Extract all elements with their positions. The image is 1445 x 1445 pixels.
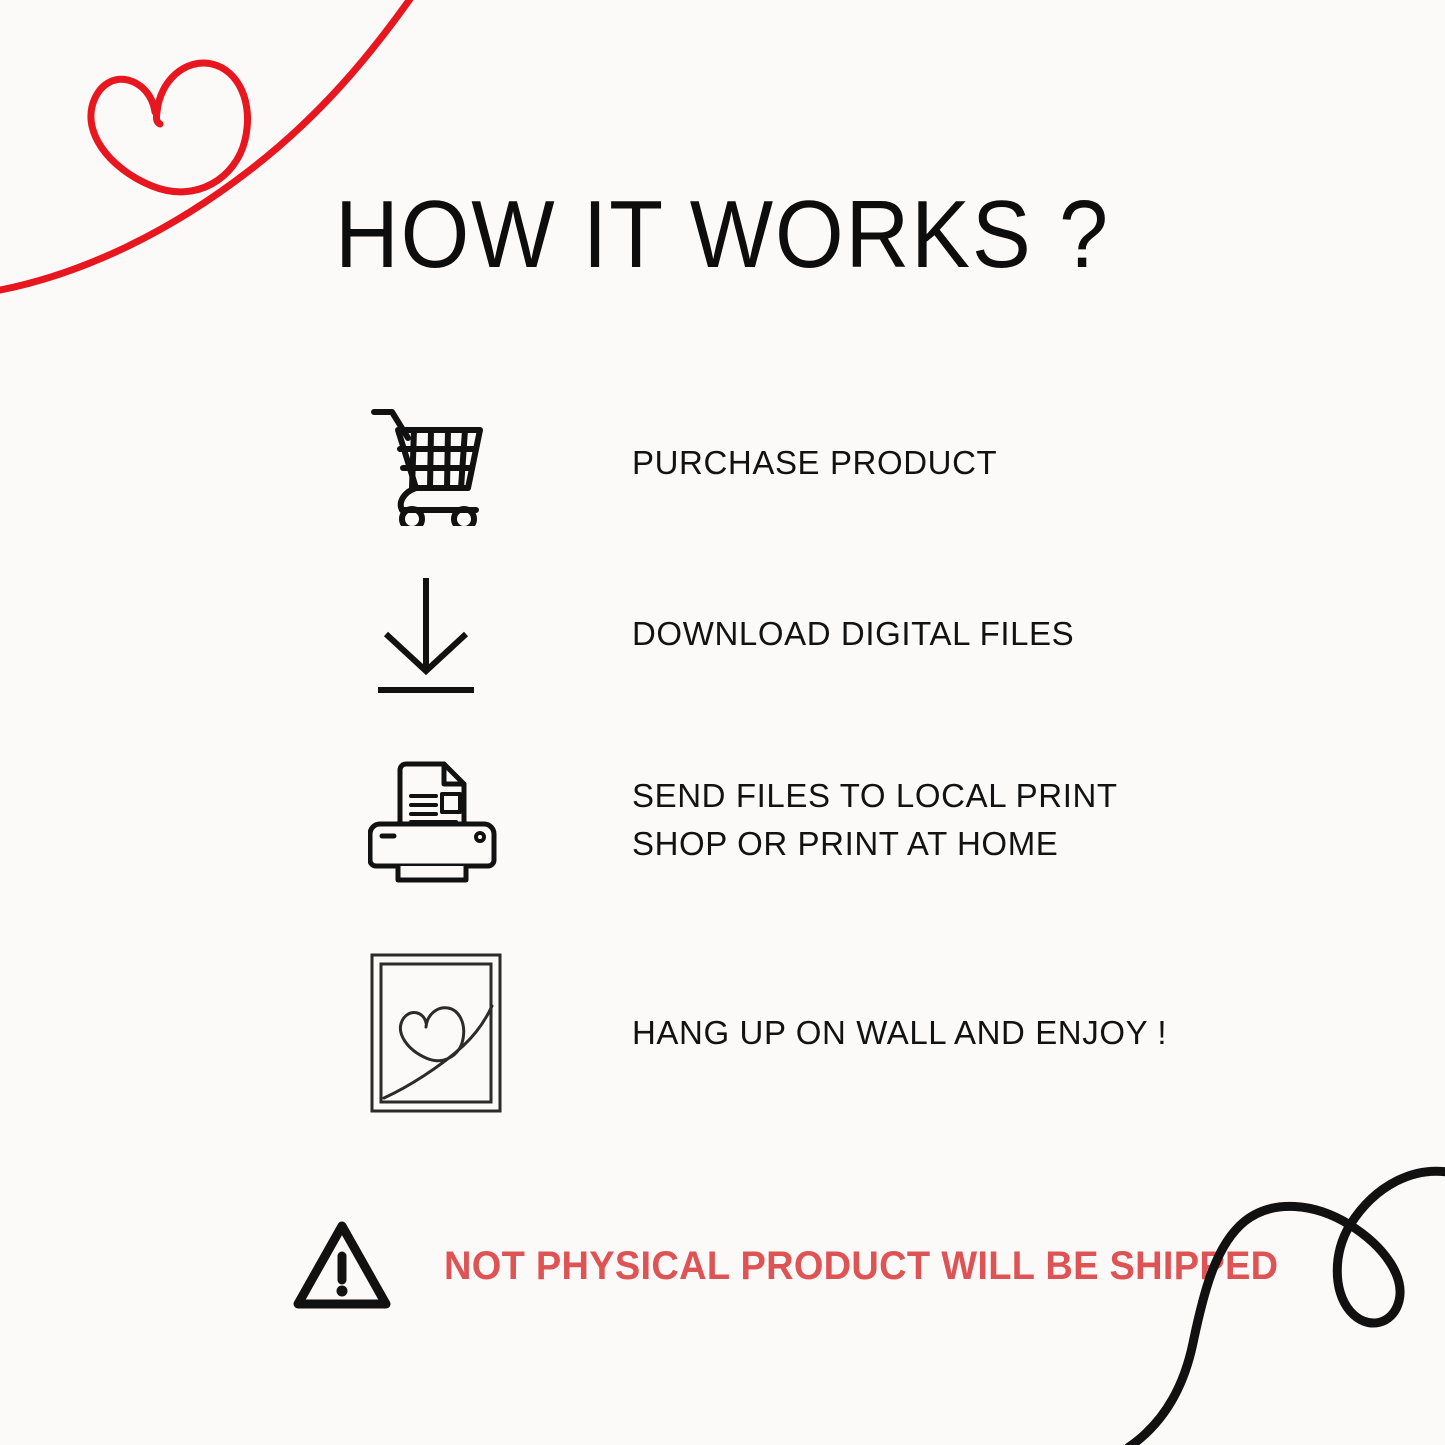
step-hang-on-wall: HANG UP ON WALL AND ENJOY ! — [360, 938, 1260, 1128]
download-arrow-icon — [368, 572, 484, 696]
step-icon-slot — [360, 400, 520, 526]
step-label: HANG UP ON WALL AND ENJOY ! — [520, 1009, 1260, 1057]
step-purchase-product: PURCHASE PRODUCT — [360, 378, 1260, 548]
step-icon-slot — [360, 572, 520, 696]
step-icon-slot — [360, 951, 520, 1115]
step-label: DOWNLOAD DIGITAL FILES — [520, 610, 1260, 658]
warning-triangle-icon — [292, 1218, 392, 1314]
step-download-files: DOWNLOAD DIGITAL FILES — [360, 548, 1260, 720]
step-label: PURCHASE PRODUCT — [520, 439, 1260, 487]
shopping-cart-icon — [368, 400, 496, 526]
framed-art-icon — [368, 951, 504, 1115]
warning-text: NOT PHYSICAL PRODUCT WILL BE SHIPPED — [444, 1244, 1278, 1289]
footer-warning-row: NOT PHYSICAL PRODUCT WILL BE SHIPPED — [292, 1218, 1322, 1314]
step-label: SEND FILES TO LOCAL PRINT SHOP OR PRINT … — [520, 772, 1260, 868]
printer-icon — [368, 756, 500, 884]
steps-list: PURCHASE PRODUCT DOWNLOAD DIGITAL FILES — [360, 378, 1260, 1128]
infographic-canvas: HOW IT WORKS ? — [0, 0, 1445, 1445]
step-icon-slot — [360, 756, 520, 884]
step-send-to-print: SEND FILES TO LOCAL PRINT SHOP OR PRINT … — [360, 720, 1260, 920]
page-title: HOW IT WORKS ? — [58, 185, 1387, 286]
